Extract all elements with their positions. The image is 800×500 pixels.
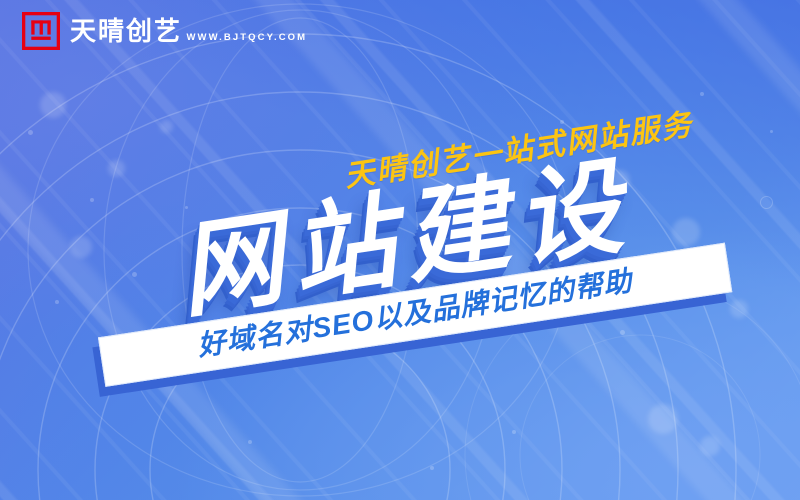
tianqing-chuangyi-mark-icon <box>22 12 60 50</box>
logo-website-url: WWW.BJTQCY.COM <box>186 32 307 43</box>
logo-company-name: 天晴创艺 <box>70 16 182 46</box>
site-logo[interactable]: 天晴创艺 WWW.BJTQCY.COM <box>22 12 307 50</box>
banner-canvas: 天晴创艺 WWW.BJTQCY.COM 天晴创艺一站式网站服务 网站建设 好域名… <box>0 0 800 500</box>
